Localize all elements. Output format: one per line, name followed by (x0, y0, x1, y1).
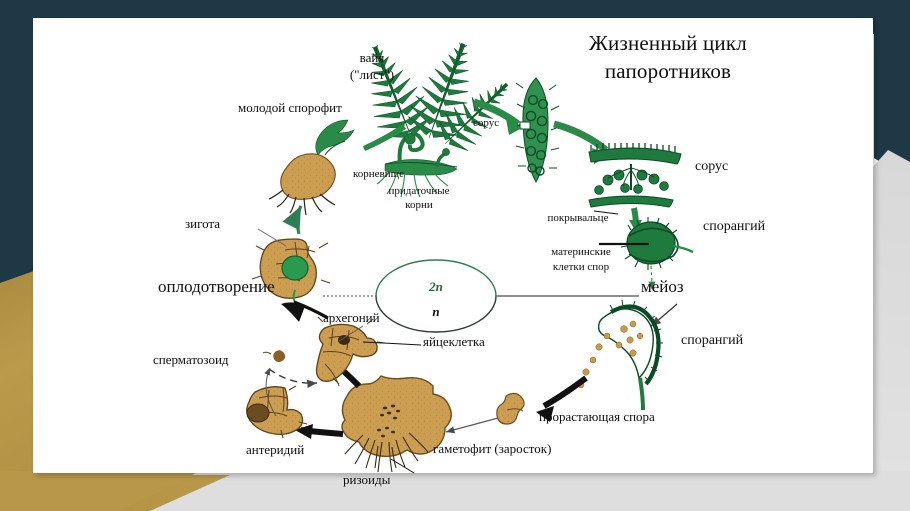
label-spermatozoid: сперматозоид (153, 353, 229, 368)
label-rhizoids: ризоиды (343, 473, 390, 488)
frame-gold-corner-wedge (0, 471, 260, 511)
label-zygote: зигота (185, 217, 220, 232)
label-indusium: покрывальце (548, 212, 609, 224)
label-egg-cell: яйцеклетка (423, 335, 485, 350)
label-gametophyte: гаметофит (заросток) (433, 442, 551, 457)
dashed-path-spermatozoid-to-archegonium (269, 369, 317, 383)
label-spore-mother-cells-line-2: клетки спор (553, 261, 609, 273)
label-archegonium: архегоний (323, 311, 380, 326)
sporophyte-base-illustration (269, 154, 335, 215)
ploidy-ring (376, 260, 496, 332)
sporangium-releasing-spores-illustration (578, 300, 663, 410)
label-germinating-spore: прорастающая спора (539, 410, 655, 425)
frame-navy-right-panel (874, 0, 910, 180)
label-spore-mother-cells-line-1: материнские (551, 246, 610, 258)
label-sorus-on-pinna: сорус (473, 117, 499, 129)
label-adventitious-roots-line-2: корни (405, 199, 433, 211)
diagram-canvas: Жизненный цикл папоротников (33, 18, 873, 473)
fern-life-cycle-diagram: вайя ("лист") молодой спорофит сорус кор… (33, 18, 873, 473)
label-fertilization: оплодотворение (158, 277, 275, 296)
label-sorus-section: сорус (695, 159, 728, 175)
arrow-germinating-to-gametophyte (446, 418, 498, 432)
label-antheridium: антеридий (246, 443, 304, 458)
ploidy-label-2n: 2n (429, 280, 443, 295)
arrow-zygote-to-sporophyte (297, 206, 301, 234)
label-young-sporophyte: молодой спорофит (238, 101, 342, 116)
label-rhizome: корневище (353, 168, 404, 180)
arrow-pinna-to-sorus (554, 124, 606, 150)
frame-gray-bottom-panel (120, 471, 910, 511)
germinating-spore-illustration (497, 393, 524, 424)
slide-root: Жизненный цикл папоротников (0, 0, 910, 511)
gametophyte-illustration (342, 376, 451, 472)
label-sporangium-bottom: спорангий (681, 333, 743, 349)
arrow-spores-to-germinating (544, 378, 586, 406)
label-adventitious-roots-line-1: придаточные (388, 185, 449, 197)
frame-gold-bottom-bar (0, 475, 910, 511)
spore-bearing-pinna-illustration (514, 78, 559, 182)
label-sporangium-top: спорангий (703, 219, 765, 235)
ploidy-label-n: n (432, 305, 439, 320)
frame-gray-right-panel (870, 150, 910, 511)
life-cycle-illustration (33, 18, 873, 473)
label-meiosis: мейоз (641, 277, 684, 296)
spermatozoid-illustration (263, 350, 285, 362)
label-vaiya-leaf: ("лист") (350, 68, 394, 83)
label-vaiya: вайя (360, 51, 385, 66)
